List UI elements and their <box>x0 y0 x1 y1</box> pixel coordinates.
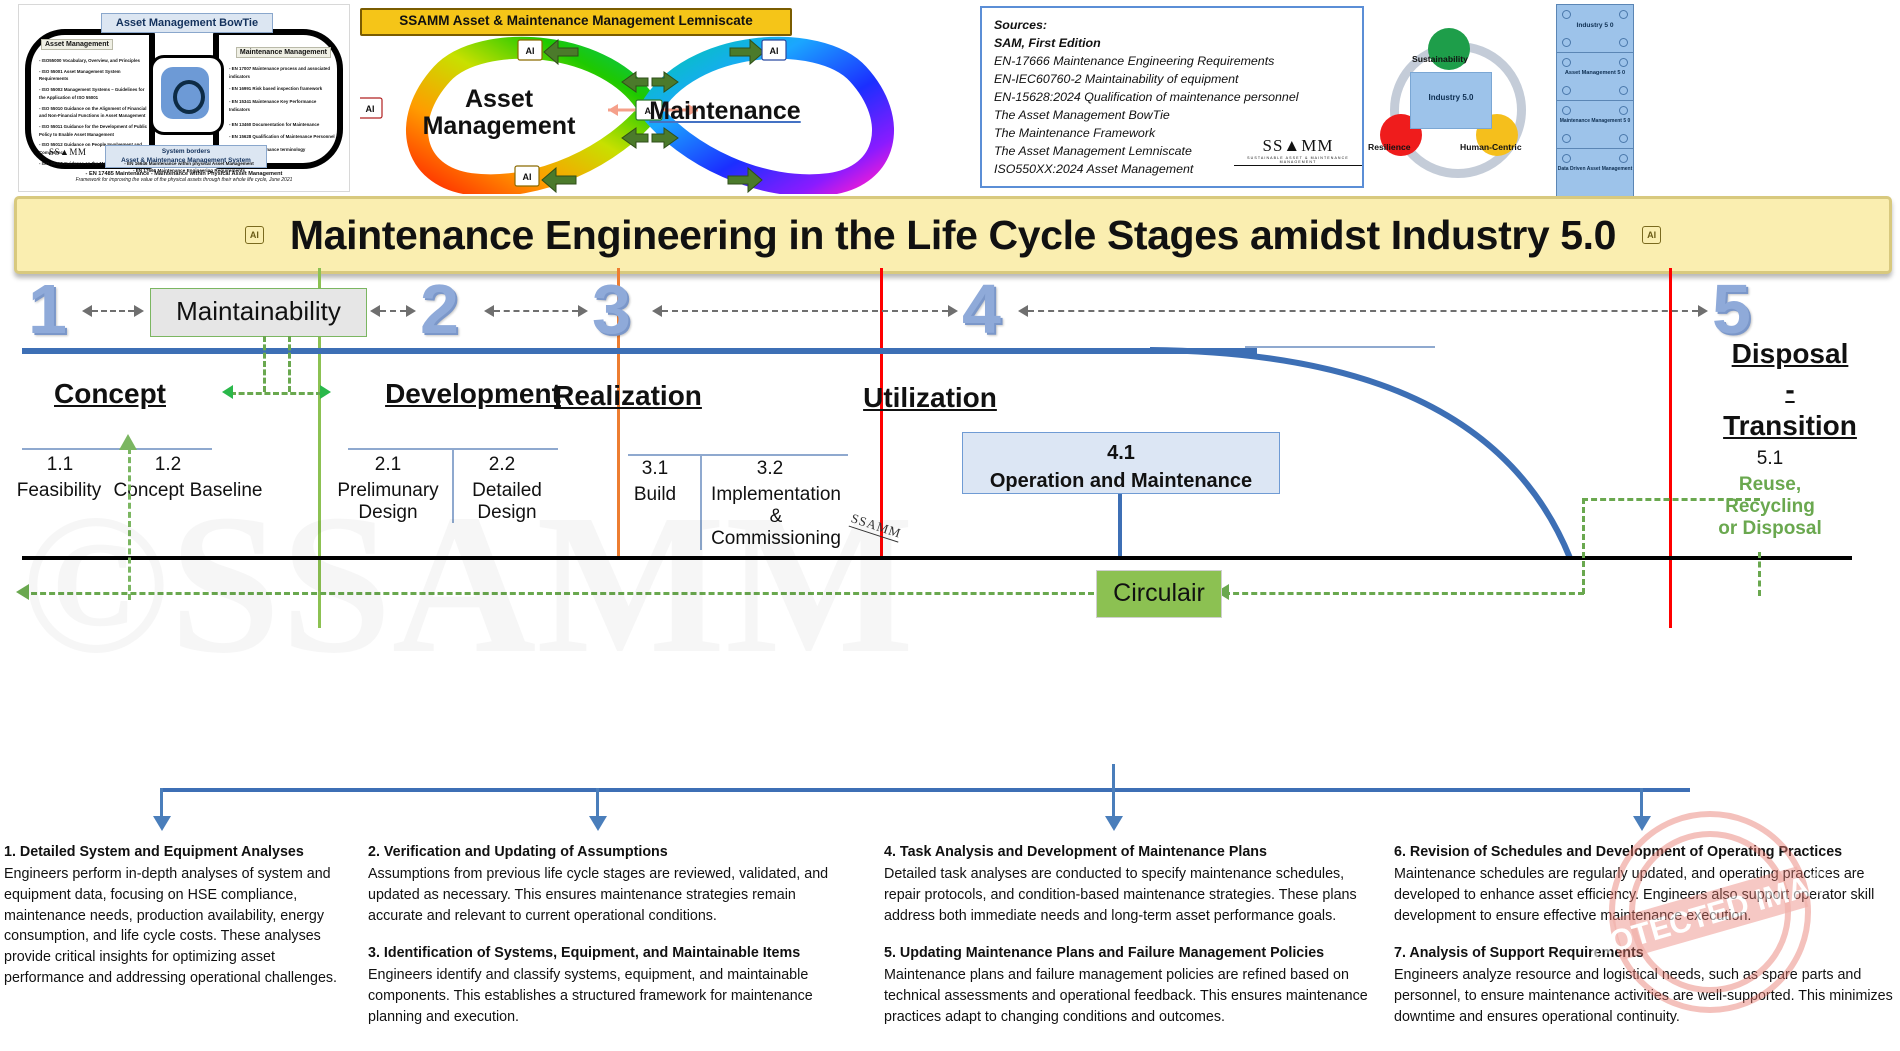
bowtie-title: Asset Management BowTie <box>101 13 273 33</box>
note-body: Assumptions from previous life cycle sta… <box>368 864 848 927</box>
stage-numeral-2: 2 <box>420 274 459 344</box>
card-industry5[interactable]: Industry 5 0 <box>1556 4 1634 53</box>
maintainability-link-v2 <box>288 336 291 392</box>
source-line: ISO550XX:2024 Asset Management <box>994 162 1193 176</box>
sources-ssamm-logo: SS▲MM SUSTAINABLE ASSET & MAINTENANCE MA… <box>1234 136 1362 166</box>
sub-num-3-1: 3.1 <box>622 458 688 480</box>
note-title: 1. Detailed System and Equipment Analyse… <box>4 842 349 863</box>
sub-num-2-2: 2.2 <box>462 454 542 476</box>
note-title: 6. Revision of Schedules and Development… <box>1394 842 1894 863</box>
human-centric-label: Human-Centric <box>1460 142 1522 152</box>
stage-numeral-4: 4 <box>962 274 1001 344</box>
sub-num-2-1: 2.1 <box>348 454 428 476</box>
maintainability-link-v1 <box>263 336 266 392</box>
note-title: 3. Identification of Systems, Equipment,… <box>368 943 848 964</box>
sources-box: Sources: SAM, First Edition EN-17666 Mai… <box>980 6 1364 188</box>
note-body: Engineers identify and classify systems,… <box>368 965 848 1028</box>
note-body: Maintenance schedules are regularly upda… <box>1394 864 1894 927</box>
blue-timeline-bar <box>22 348 1257 354</box>
sub-label-1-1: Feasibility <box>6 480 112 502</box>
sub-label-3-1: Build <box>620 484 690 506</box>
note-title: 7. Analysis of Support Requirements <box>1394 943 1894 964</box>
source-line: SAM, First Edition <box>994 36 1101 50</box>
sub-num-1-1: 1.1 <box>20 454 100 476</box>
bowtie-knot-logo-icon <box>161 67 209 119</box>
arrow-4-to-5 <box>1018 304 1708 318</box>
notes-stem-4 <box>1640 788 1643 818</box>
circular-path-disposal-drop <box>1758 552 1761 596</box>
card-asset-management5[interactable]: Asset Management 5 0 <box>1556 52 1634 101</box>
sub-num-3-2: 3.2 <box>720 458 820 480</box>
source-line: The Asset Management Lemniscate <box>994 144 1192 158</box>
card-maintenance-management5[interactable]: Maintenance Management 5 0 <box>1556 100 1634 149</box>
stage-heading-utilization: Utilization <box>800 382 1060 414</box>
ssamm-lemniscate-thumbnail[interactable]: SSAMM Asset & Maintenance Management Lem… <box>360 2 960 194</box>
note-column-2: 2. Verification and Updating of Assumpti… <box>368 842 848 1045</box>
svg-text:AI: AI <box>526 46 535 56</box>
svg-text:AI: AI <box>523 172 532 182</box>
utilization-stem <box>1118 494 1122 556</box>
svg-text:AI: AI <box>366 104 375 114</box>
lifecycle-diagram: 1 2 3 4 5 Maintainability Concept Develo… <box>0 268 1900 788</box>
sources-heading: Sources: <box>994 18 1047 32</box>
source-line: EN-15628:2024 Qualification of maintenan… <box>994 90 1298 104</box>
bowtie-right-label: Maintenance Management <box>236 47 331 58</box>
maintainability-arrow-right <box>320 385 331 399</box>
note-column-1: 1. Detailed System and Equipment Analyse… <box>4 842 349 1006</box>
notes-arrow-1 <box>153 816 171 831</box>
bowtie-right-items: - EN 17007 Maintenance process and assoc… <box>229 65 337 154</box>
notes-stem-1 <box>160 788 163 818</box>
sub-label-3-2: Implementation&Commissioning <box>698 484 854 550</box>
tick-realization <box>628 454 848 456</box>
sub-label-2-1: PrelimunaryDesign <box>330 480 446 524</box>
circular-path-right <box>1224 592 1584 595</box>
note-title: 2. Verification and Updating of Assumpti… <box>368 842 848 863</box>
sub-num-4-1: 4.1 <box>963 439 1279 467</box>
notes-bus-line <box>160 788 1690 792</box>
industry5-mini-card: Industry 5.0 <box>1410 72 1492 129</box>
circular-path-top-return <box>1582 498 1760 501</box>
circular-arrow-head-left <box>16 584 29 600</box>
notes-stem-3 <box>1112 764 1115 818</box>
arrow-maintainability-to-2 <box>370 304 416 318</box>
sub-label-2-2: DetailedDesign <box>462 480 552 524</box>
sub-label-4-1: Operation and Maintenance <box>963 467 1279 495</box>
notes-stem-2 <box>596 788 599 818</box>
tick-line-stage5-top <box>1245 346 1435 348</box>
note-body: Detailed task analyses are conducted to … <box>884 864 1384 927</box>
resilience-label: Resilience <box>1368 142 1411 152</box>
stage-heading-disposal-transition: Disposal-Transition <box>1690 336 1890 443</box>
bowtie-left-label: Asset Management <box>41 39 113 50</box>
stage-numeral-3: 3 <box>592 274 631 344</box>
sub-num-1-2: 1.2 <box>118 454 218 476</box>
concept-up-connector <box>128 448 131 600</box>
notes-arrow-4 <box>1633 816 1651 831</box>
industry5-triad-thumbnail[interactable]: Sustainability Resilience Human-Centric … <box>1372 10 1532 180</box>
note-body: Engineers analyze resource and logistica… <box>1394 965 1894 1028</box>
lemniscate-asset-management-label: AssetManagement <box>404 86 594 140</box>
maintainability-box[interactable]: Maintainability <box>150 288 367 337</box>
notes-arrow-2 <box>589 816 607 831</box>
circular-path-left <box>22 592 1094 595</box>
bottom-notes-area: 1. Detailed System and Equipment Analyse… <box>0 788 1900 1051</box>
notes-arrow-3 <box>1105 816 1123 831</box>
operation-and-maintenance-box[interactable]: 4.1 Operation and Maintenance <box>962 432 1280 494</box>
top-thumbnail-strip: Asset Management BowTie Asset Management… <box>0 0 1900 196</box>
maintainability-link-h <box>230 392 322 395</box>
arrow-1-to-maintainability <box>82 304 144 318</box>
source-line: The Maintenance Framework <box>994 126 1155 140</box>
bowtie-footer: - EN 17485 Maintenance - Maintenance wit… <box>31 171 337 183</box>
page-title: Maintenance Engineering in the Life Cycl… <box>290 212 1616 259</box>
source-line: The Asset Management BowTie <box>994 108 1170 122</box>
svg-text:AI: AI <box>770 46 779 56</box>
circulair-box[interactable]: Circulair <box>1096 570 1222 618</box>
stage-numeral-5: 5 <box>1712 274 1751 344</box>
note-column-3: 4. Task Analysis and Development of Main… <box>884 842 1384 1045</box>
baseline <box>22 556 1852 560</box>
source-line: EN-IEC60760-2 Maintainability of equipme… <box>994 72 1239 86</box>
arrow-3-to-4 <box>652 304 958 318</box>
stage-heading-concept: Concept <box>20 378 200 410</box>
note-column-4: 6. Revision of Schedules and Development… <box>1394 842 1894 1045</box>
ai-chip-icon-right: AI <box>1642 226 1661 244</box>
page-title-banner: AI Maintenance Engineering in the Life C… <box>14 196 1892 274</box>
note-body: Maintenance plans and failure management… <box>884 965 1384 1028</box>
note-body: Engineers perform in-depth analyses of s… <box>4 864 349 989</box>
sub-num-5-1: 5.1 <box>1690 448 1850 470</box>
concept-up-arrow <box>119 434 137 450</box>
circular-path-riser <box>1582 498 1585 594</box>
sustainability-label: Sustainability <box>1412 54 1468 64</box>
bowtie-knot <box>150 55 224 135</box>
stage-numeral-1: 1 <box>28 274 67 344</box>
maintainability-arrow-left <box>222 385 233 399</box>
sub-label-1-2: Concept Baseline <box>108 480 268 502</box>
publication-card-stack[interactable]: Industry 5 0 Asset Management 5 0 Mainte… <box>1556 2 1632 194</box>
asset-management-bowtie-thumbnail[interactable]: Asset Management BowTie Asset Management… <box>18 4 350 192</box>
ai-chip-icon-left: AI <box>245 226 264 244</box>
note-title: 4. Task Analysis and Development of Main… <box>884 842 1384 863</box>
lemniscate-maintenance-label: Maintenance <box>615 98 835 125</box>
card-data-driven-asset-management[interactable]: Data Driven Asset Management <box>1556 148 1634 197</box>
bowtie-ssamm-logo: SS▲MM <box>49 147 86 157</box>
tick-divider-development <box>452 448 454 523</box>
tick-concept <box>22 448 212 450</box>
sub-label-5-1: Reuse,Recyclingor Disposal <box>1680 474 1860 540</box>
note-title: 5. Updating Maintenance Plans and Failur… <box>884 943 1384 964</box>
source-line: EN-17666 Maintenance Engineering Require… <box>994 54 1274 68</box>
ssamm-inline-mark: SSAMM <box>849 510 904 542</box>
stage-heading-realization: Realization <box>528 380 728 412</box>
arrow-2-to-3 <box>484 304 588 318</box>
